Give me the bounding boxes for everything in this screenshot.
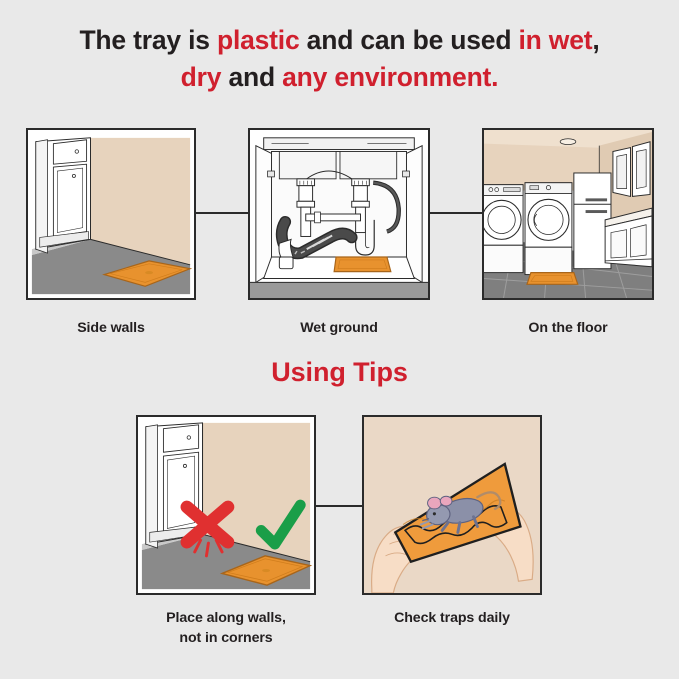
orange-trap bbox=[527, 273, 578, 285]
headline-highlight-plastic: plastic bbox=[217, 25, 300, 55]
scene-under-sink-plumbing bbox=[250, 130, 428, 298]
panel-place-along-walls bbox=[136, 415, 316, 595]
panel-on-the-floor bbox=[482, 128, 654, 300]
panel-connector-3 bbox=[316, 505, 362, 507]
caption-side-walls: Side walls bbox=[26, 318, 196, 338]
orange-trap bbox=[334, 257, 391, 272]
scene-room-corner-with-marks bbox=[138, 417, 314, 593]
caption-line-1: Place along walls, bbox=[166, 610, 286, 626]
caption-check-traps-daily: Check traps daily bbox=[357, 608, 547, 628]
page-headline: The tray is plastic and can be used in w… bbox=[0, 22, 679, 95]
panel-connector-2 bbox=[430, 212, 482, 214]
scene-laundry-room bbox=[484, 130, 652, 298]
washer bbox=[484, 185, 523, 273]
headline-text-2: and can be used bbox=[300, 25, 519, 55]
caption-wet-ground: Wet ground bbox=[248, 318, 430, 338]
caption-on-the-floor: On the floor bbox=[482, 318, 654, 338]
panel-side-walls bbox=[26, 128, 196, 300]
headline-text-4: and bbox=[221, 62, 282, 92]
dryer bbox=[525, 183, 572, 275]
section-heading-using-tips: Using Tips bbox=[0, 357, 679, 388]
headline-highlight-in-wet: in wet bbox=[518, 25, 592, 55]
headline-text-1: The tray is bbox=[79, 25, 217, 55]
headline-line-2: dry and any environment. bbox=[0, 59, 679, 96]
headline-text-3: , bbox=[592, 25, 599, 55]
headline-highlight-any-environment: any environment. bbox=[282, 62, 498, 92]
headline-highlight-dry: dry bbox=[181, 62, 222, 92]
panel-wet-ground bbox=[248, 128, 430, 300]
panel-connector-1 bbox=[196, 212, 248, 214]
caption-line-2: not in corners bbox=[121, 628, 331, 648]
caption-place-along-walls: Place along walls, not in corners bbox=[121, 608, 331, 648]
scene-hands-holding-trap bbox=[364, 417, 540, 593]
headline-line-1: The tray is plastic and can be used in w… bbox=[0, 22, 679, 59]
panel-check-traps-daily bbox=[362, 415, 542, 595]
scene-room-corner-side-walls bbox=[28, 130, 194, 298]
